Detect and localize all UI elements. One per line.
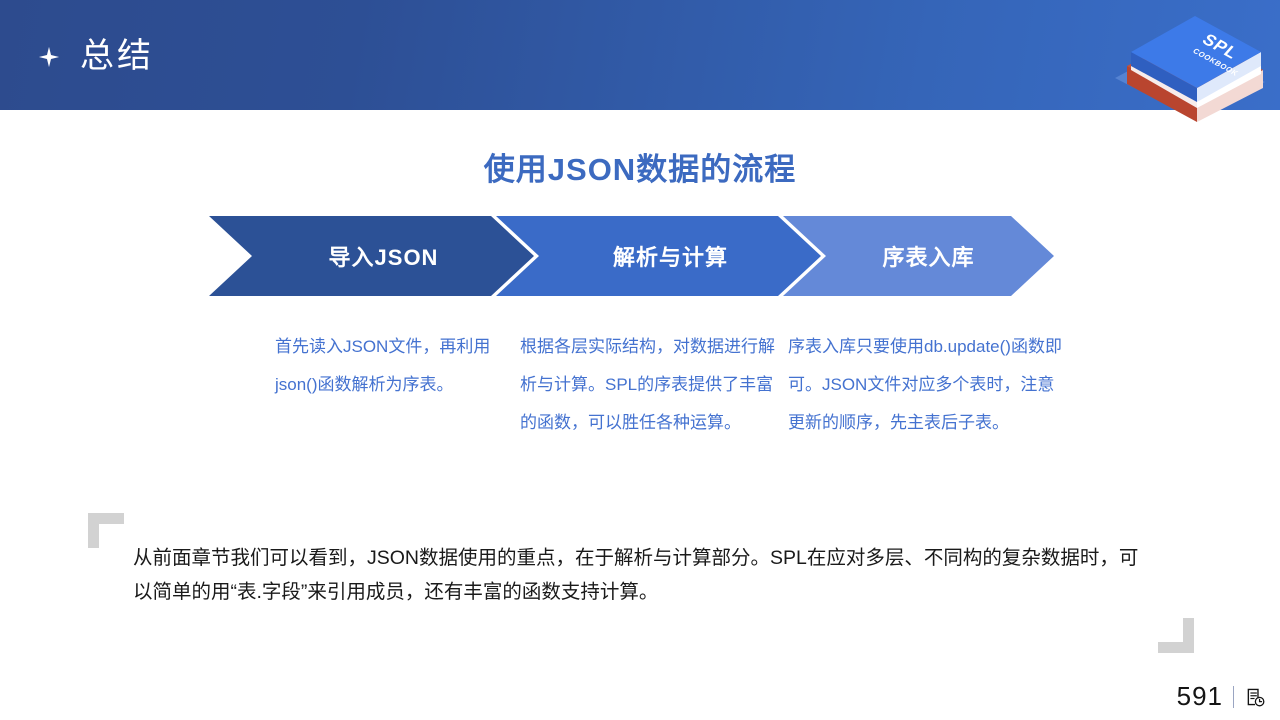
flow-step-2[interactable]: 解析与计算	[496, 216, 821, 296]
flow-step-2-label: 解析与计算	[613, 240, 728, 272]
spl-cookbook-book-logo: SPL COOKBOOK	[1105, 8, 1275, 136]
page-number: 591	[1177, 681, 1223, 712]
description-column-2: 根据各层实际结构，对数据进行解析与计算。SPL的序表提供了丰富的函数，可以胜任各…	[520, 328, 788, 442]
sparkle-icon	[38, 46, 60, 68]
process-flow: 导入JSON 解析与计算 序表入库	[209, 216, 1054, 296]
flow-step-3[interactable]: 序表入库	[783, 216, 1054, 296]
footer-divider	[1233, 686, 1234, 708]
page-title: 总结	[80, 28, 154, 77]
description-columns: 首先读入JSON文件，再利用json()函数解析为序表。 根据各层实际结构，对数…	[275, 328, 1065, 442]
flow-step-1-label: 导入JSON	[329, 240, 439, 272]
corner-bracket-bottom-right-icon	[1158, 618, 1194, 653]
description-column-1: 首先读入JSON文件，再利用json()函数解析为序表。	[275, 328, 520, 442]
header-band: 总结	[0, 0, 1280, 110]
summary-note: 从前面章节我们可以看到，JSON数据使用的重点，在于解析与计算部分。SPL在应对…	[133, 541, 1143, 609]
flow-step-1[interactable]: 导入JSON	[209, 216, 534, 296]
description-column-3: 序表入库只要使用db.update()函数即可。JSON文件对应多个表时，注意更…	[788, 328, 1065, 442]
document-history-icon[interactable]	[1244, 686, 1266, 708]
slide-heading: 使用JSON数据的流程	[0, 144, 1280, 189]
flow-step-3-label: 序表入库	[882, 240, 974, 272]
footer: 591	[1177, 681, 1266, 712]
corner-bracket-top-left-icon	[88, 513, 124, 548]
